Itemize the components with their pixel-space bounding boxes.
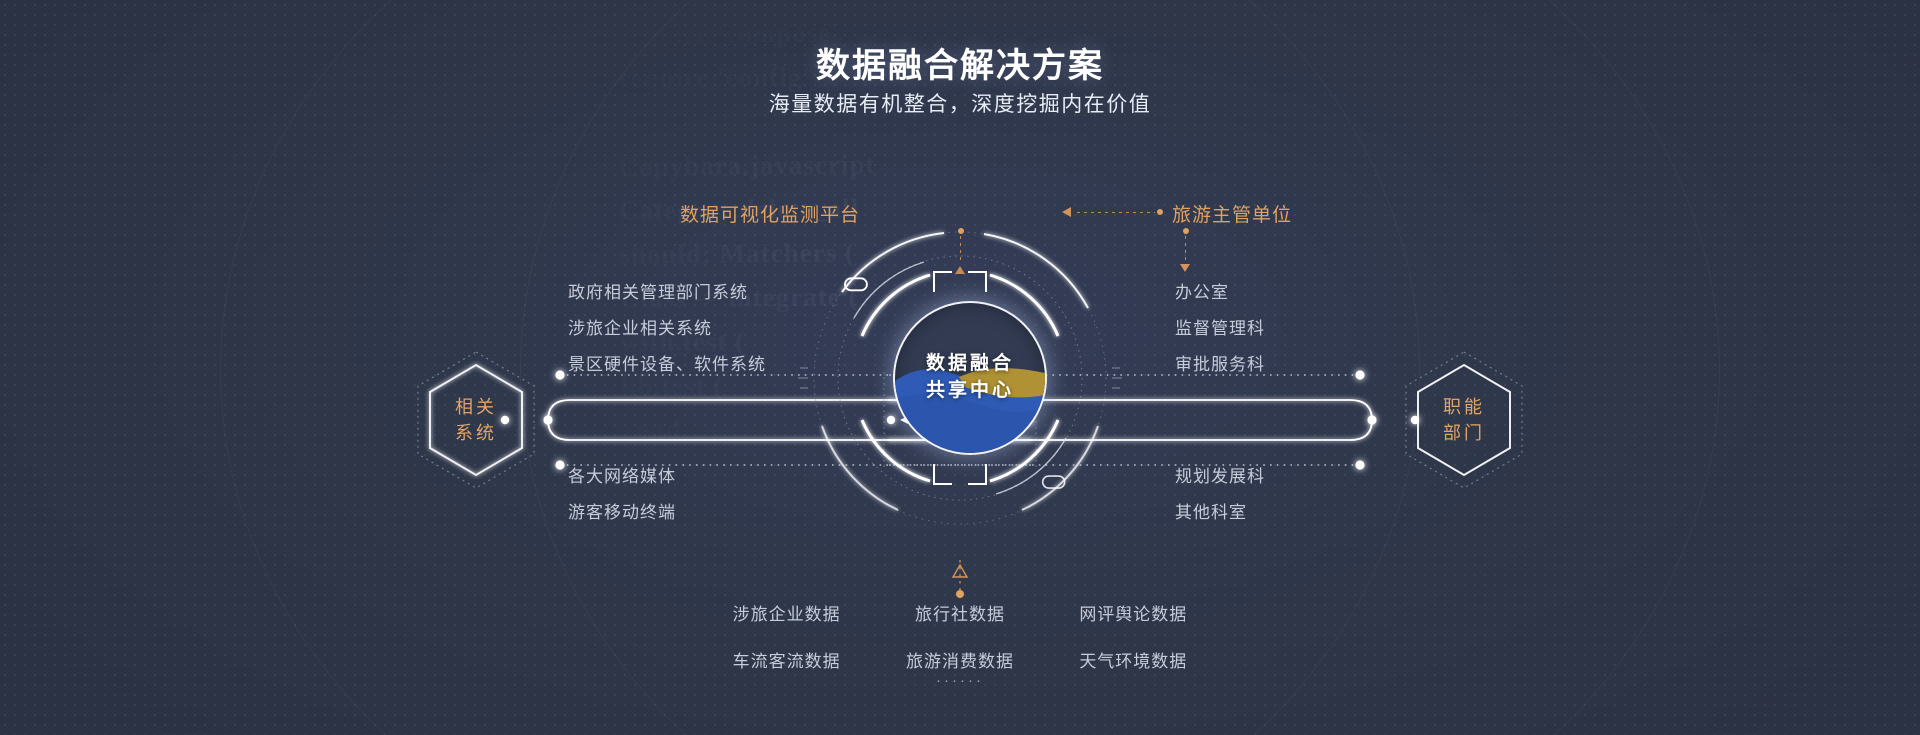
bottom-data-grid: 涉旅企业数据 旅行社数据 网评舆论数据 车流客流数据 旅游消费数据 天气环境数据 [700, 600, 1220, 672]
right-item-supervision-dept[interactable]: 监督管理科 [1175, 314, 1265, 339]
right-item-approval-service-dept[interactable]: 审批服务科 [1175, 350, 1265, 375]
left-item-government-systems[interactable]: 政府相关管理部门系统 [568, 278, 748, 303]
bottom-item-4[interactable]: 旅游消费数据 [873, 647, 1046, 672]
bottom-item-2[interactable]: 网评舆论数据 [1047, 600, 1220, 625]
hexagon-left-line1: 相关 [455, 396, 497, 419]
hexagon-functional-departments[interactable]: 职能 部门 [1400, 349, 1528, 491]
right-item-planning-dept[interactable]: 规划发展科 [1175, 462, 1265, 487]
left-item-network-media[interactable]: 各大网络媒体 [568, 462, 676, 487]
hub-wave-graphic [895, 303, 1045, 453]
central-hub: 数据融合 共享中心 [820, 228, 1120, 528]
hexagon-left-line2: 系统 [455, 422, 497, 445]
hexagon-right-line2: 部门 [1443, 422, 1485, 445]
left-item-tourism-enterprise-systems[interactable]: 涉旅企业相关系统 [568, 314, 712, 339]
right-item-other-depts[interactable]: 其他科室 [1175, 498, 1247, 523]
bottom-item-5[interactable]: 天气环境数据 [1047, 647, 1220, 672]
right-item-office[interactable]: 办公室 [1175, 278, 1229, 303]
bottom-ellipsis: ······ [700, 672, 1220, 689]
bottom-item-0[interactable]: 涉旅企业数据 [700, 600, 873, 625]
hexagon-right-line1: 职能 [1443, 396, 1485, 419]
bottom-item-1[interactable]: 旅行社数据 [873, 600, 1046, 625]
hexagon-right-label: 职能 部门 [1400, 349, 1528, 491]
hub-core-circle [895, 303, 1045, 453]
bottom-item-3[interactable]: 车流客流数据 [700, 647, 873, 672]
left-item-mobile-terminal[interactable]: 游客移动终端 [568, 498, 676, 523]
hexagon-related-systems[interactable]: 相关 系统 [412, 349, 540, 491]
left-item-scenic-hardware-software[interactable]: 景区硬件设备、软件系统 [568, 350, 766, 375]
hexagon-left-label: 相关 系统 [412, 349, 540, 491]
